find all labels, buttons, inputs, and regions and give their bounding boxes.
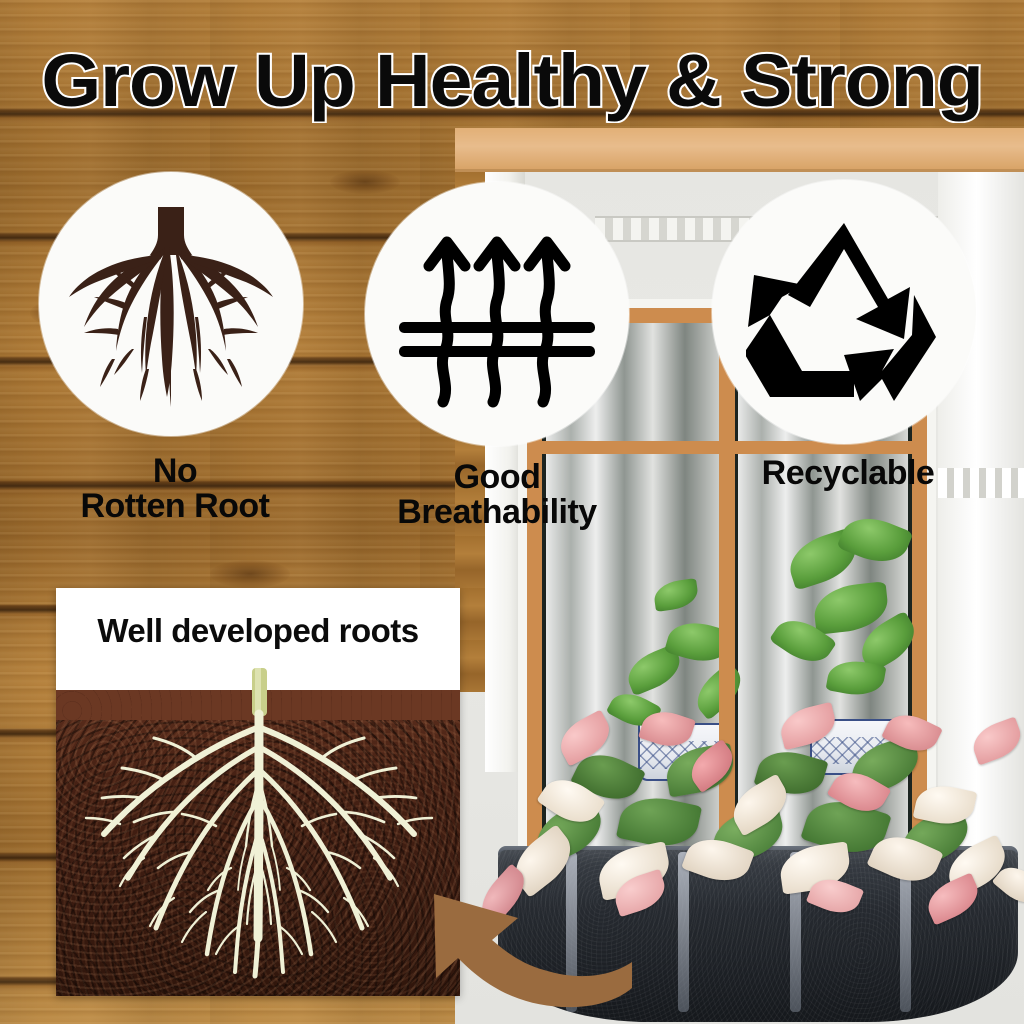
feature-label-line2: Rotten Root [80, 487, 269, 525]
product-infographic: Grow Up Healthy & Strong [0, 0, 1024, 1024]
feature-recyclable[interactable]: Recyclable [712, 180, 984, 491]
roots-panel-title: Well developed roots [56, 612, 460, 650]
recycle-icon [746, 219, 942, 405]
variegated-foliage [480, 690, 1024, 920]
feature-label-line1: Good [454, 458, 541, 496]
feature-icon-circle [365, 182, 629, 446]
feature-label: Recyclable [712, 456, 984, 491]
page-title: Grow Up Healthy & Strong [0, 44, 1024, 118]
feature-label-line1: No [153, 452, 197, 490]
feature-label-line2: Breathability [397, 493, 596, 531]
root-system-icon [66, 199, 276, 409]
curved-pointer-arrow [418, 892, 638, 1012]
feature-label: Good Breathability [347, 460, 647, 529]
breathability-arrows-icon [397, 214, 597, 414]
plant-root-illustration [56, 662, 460, 996]
feature-label: No Rotten Root [39, 454, 311, 523]
feature-label-line1: Recyclable [762, 454, 935, 492]
feature-icon-circle [39, 172, 303, 436]
feature-icon-circle [712, 180, 976, 444]
feature-good-breathability[interactable]: Good Breathability [347, 182, 647, 529]
roof-eave-band [455, 128, 1024, 172]
well-developed-roots-panel: Well developed roots [56, 588, 460, 996]
feature-no-rotten-root[interactable]: No Rotten Root [39, 172, 311, 523]
